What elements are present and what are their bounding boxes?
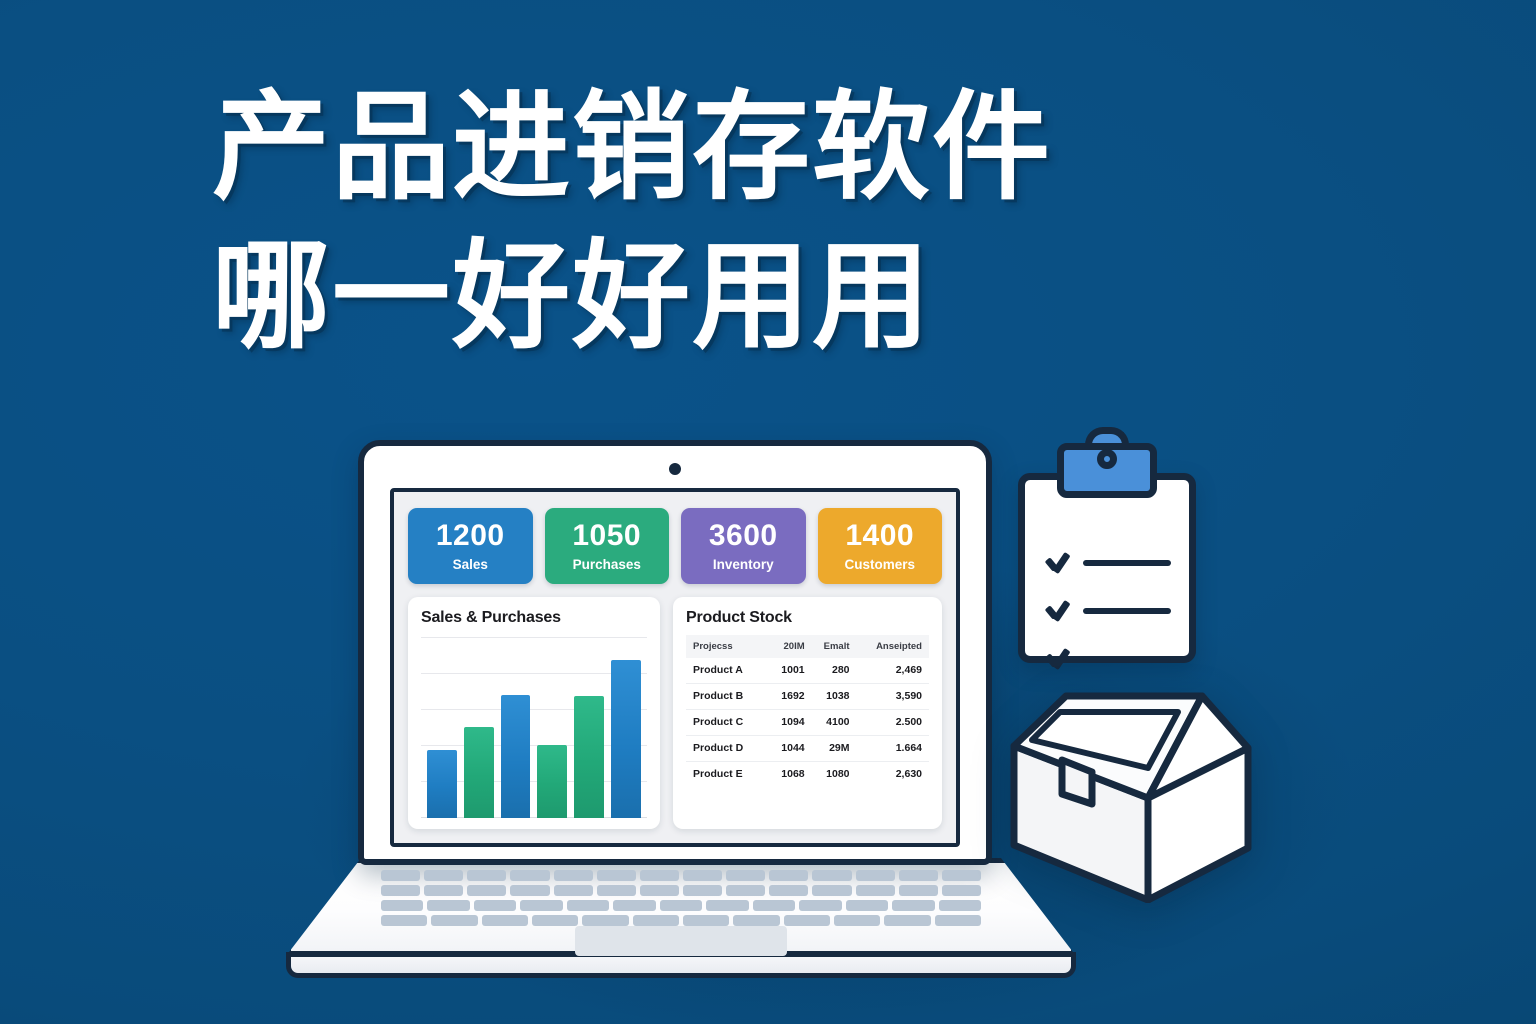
chart-bar xyxy=(464,727,494,818)
keyboard-key xyxy=(799,900,841,911)
keyboard-row xyxy=(381,900,981,911)
shipping-box-icon xyxy=(1000,688,1260,903)
chart-bar xyxy=(537,745,567,818)
keyboard-key xyxy=(812,885,851,896)
product-stock-panel: Product Stock Projecss 20IM Emalt Anseip… xyxy=(673,597,942,830)
table-body: Product A 1001 280 2,469 Product B 1692 … xyxy=(686,658,929,787)
checklist-item xyxy=(1047,600,1171,622)
cell-c1: 1692 xyxy=(767,683,809,709)
keyboard-key xyxy=(381,885,420,896)
laptop-base xyxy=(286,858,1076,978)
keyboard-key xyxy=(683,885,722,896)
cell-c1: 1094 xyxy=(767,709,809,735)
keyboard-key xyxy=(939,900,981,911)
table-title: Product Stock xyxy=(686,609,929,627)
shipping-box-svg xyxy=(1000,688,1260,903)
keyboard-key xyxy=(769,885,808,896)
laptop-keyboard xyxy=(381,870,981,926)
keyboard-key xyxy=(683,915,729,926)
checklist-item xyxy=(1047,552,1171,574)
cell-c1: 1068 xyxy=(767,761,809,787)
cell-product: Product A xyxy=(686,658,767,684)
kpi-card-purchases[interactable]: 1050 Purchases xyxy=(545,508,670,584)
bar-chart xyxy=(421,637,647,819)
webcam-icon xyxy=(669,463,681,475)
clipboard-checklist-icon xyxy=(1018,443,1196,663)
clipboard-body xyxy=(1018,473,1196,663)
keyboard-key xyxy=(482,915,528,926)
cell-c1: 1001 xyxy=(767,658,809,684)
keyboard-key xyxy=(532,915,578,926)
dashboard-panels: Sales & Purchases xyxy=(408,597,942,830)
table-header: Projecss 20IM Emalt Anseipted xyxy=(686,635,929,658)
laptop-lid: 1200 Sales 1050 Purchases 3600 Inventory… xyxy=(358,440,992,865)
cell-product: Product E xyxy=(686,761,767,787)
kpi-label: Sales xyxy=(412,558,529,572)
keyboard-key xyxy=(431,915,477,926)
keyboard-key xyxy=(899,885,938,896)
headline: 产品进销存软件 哪一好好用用 xyxy=(0,86,1536,360)
keyboard-key xyxy=(683,870,722,881)
keyboard-key xyxy=(640,870,679,881)
keyboard-key xyxy=(726,885,765,896)
keyboard-key xyxy=(474,900,516,911)
table-row[interactable]: Product B 1692 1038 3,590 xyxy=(686,683,929,709)
keyboard-key xyxy=(733,915,779,926)
column-header-c3[interactable]: Anseipted xyxy=(854,635,929,658)
cell-c3: 3,590 xyxy=(854,683,929,709)
kpi-label: Inventory xyxy=(685,558,802,572)
laptop-illustration: 1200 Sales 1050 Purchases 3600 Inventory… xyxy=(286,440,1076,985)
chart-bars xyxy=(427,637,641,819)
cell-c2: 29M xyxy=(809,735,854,761)
keyboard-key xyxy=(597,885,636,896)
table-row[interactable]: Product C 1094 4100 2.500 xyxy=(686,709,929,735)
cell-c3: 2,469 xyxy=(854,658,929,684)
keyboard-row xyxy=(381,885,981,896)
kpi-card-sales[interactable]: 1200 Sales xyxy=(408,508,533,584)
check-icon xyxy=(1047,600,1069,622)
headline-line-1: 产品进销存软件 xyxy=(212,86,1536,211)
keyboard-key xyxy=(753,900,795,911)
kpi-card-inventory[interactable]: 3600 Inventory xyxy=(681,508,806,584)
keyboard-key xyxy=(935,915,981,926)
keyboard-key xyxy=(846,900,888,911)
keyboard-key xyxy=(510,885,549,896)
cell-c2: 1080 xyxy=(809,761,854,787)
cell-c1: 1044 xyxy=(767,735,809,761)
kpi-card-row: 1200 Sales 1050 Purchases 3600 Inventory… xyxy=(408,508,942,584)
chart-bar xyxy=(501,695,531,818)
table-row[interactable]: Product E 1068 1080 2,630 xyxy=(686,761,929,787)
product-stock-table: Projecss 20IM Emalt Anseipted Product A … xyxy=(686,635,929,787)
keyboard-key xyxy=(381,900,423,911)
chart-bar xyxy=(427,750,457,818)
keyboard-key xyxy=(640,885,679,896)
clipboard-checklist xyxy=(1047,552,1171,670)
keyboard-key xyxy=(884,915,930,926)
checklist-line xyxy=(1083,560,1171,566)
kpi-label: Customers xyxy=(822,558,939,572)
kpi-value: 3600 xyxy=(685,521,802,551)
checklist-line xyxy=(1083,608,1171,614)
cell-c3: 2,630 xyxy=(854,761,929,787)
keyboard-row xyxy=(381,870,981,881)
check-icon xyxy=(1047,648,1069,670)
keyboard-row xyxy=(381,915,981,926)
cell-c2: 4100 xyxy=(809,709,854,735)
poster-canvas: 产品进销存软件 哪一好好用用 xyxy=(0,0,1536,1024)
checklist-item xyxy=(1047,648,1171,670)
cell-c3: 1.664 xyxy=(854,735,929,761)
kpi-label: Purchases xyxy=(549,558,666,572)
box-flap xyxy=(1062,760,1092,804)
headline-line-2: 哪一好好用用 xyxy=(212,235,1536,360)
keyboard-key xyxy=(856,870,895,881)
keyboard-key xyxy=(834,915,880,926)
keyboard-key xyxy=(520,900,562,911)
kpi-card-customers[interactable]: 1400 Customers xyxy=(818,508,943,584)
keyboard-key xyxy=(424,870,463,881)
keyboard-key xyxy=(812,870,851,881)
keyboard-key xyxy=(567,900,609,911)
cell-product: Product B xyxy=(686,683,767,709)
keyboard-key xyxy=(597,870,636,881)
cell-c2: 1038 xyxy=(809,683,854,709)
table-row[interactable]: Product A 1001 280 2,469 xyxy=(686,658,929,684)
sales-purchases-chart-panel: Sales & Purchases xyxy=(408,597,660,830)
kpi-value: 1050 xyxy=(549,521,666,551)
keyboard-key xyxy=(554,870,593,881)
keyboard-key xyxy=(942,870,981,881)
keyboard-key xyxy=(381,915,427,926)
keyboard-key xyxy=(726,870,765,881)
cell-product: Product D xyxy=(686,735,767,761)
clipboard-clip-hole xyxy=(1097,449,1117,469)
keyboard-key xyxy=(856,885,895,896)
cell-product: Product C xyxy=(686,709,767,735)
keyboard-key xyxy=(942,885,981,896)
keyboard-key xyxy=(510,870,549,881)
keyboard-key xyxy=(424,885,463,896)
keyboard-key xyxy=(467,870,506,881)
kpi-value: 1400 xyxy=(822,521,939,551)
keyboard-key xyxy=(899,870,938,881)
column-header-c1[interactable]: 20IM xyxy=(767,635,809,658)
keyboard-key xyxy=(613,900,655,911)
keyboard-key xyxy=(427,900,469,911)
keyboard-key xyxy=(467,885,506,896)
keyboard-key xyxy=(784,915,830,926)
check-icon xyxy=(1047,552,1069,574)
table-row[interactable]: Product D 1044 29M 1.664 xyxy=(686,735,929,761)
laptop-trackpad xyxy=(575,926,787,956)
column-header-c2[interactable]: Emalt xyxy=(809,635,854,658)
keyboard-key xyxy=(892,900,934,911)
column-header-product[interactable]: Projecss xyxy=(686,635,767,658)
keyboard-key xyxy=(633,915,679,926)
dashboard-screen: 1200 Sales 1050 Purchases 3600 Inventory… xyxy=(390,488,960,847)
chart-bar xyxy=(611,660,641,818)
keyboard-key xyxy=(381,870,420,881)
keyboard-key xyxy=(769,870,808,881)
cell-c2: 280 xyxy=(809,658,854,684)
checklist-line xyxy=(1083,656,1171,662)
chart-title: Sales & Purchases xyxy=(421,609,647,627)
cell-c3: 2.500 xyxy=(854,709,929,735)
keyboard-key xyxy=(582,915,628,926)
chart-bar xyxy=(574,696,604,818)
table-header-row: Projecss 20IM Emalt Anseipted xyxy=(686,635,929,658)
kpi-value: 1200 xyxy=(412,521,529,551)
keyboard-key xyxy=(660,900,702,911)
keyboard-key xyxy=(706,900,748,911)
keyboard-key xyxy=(554,885,593,896)
